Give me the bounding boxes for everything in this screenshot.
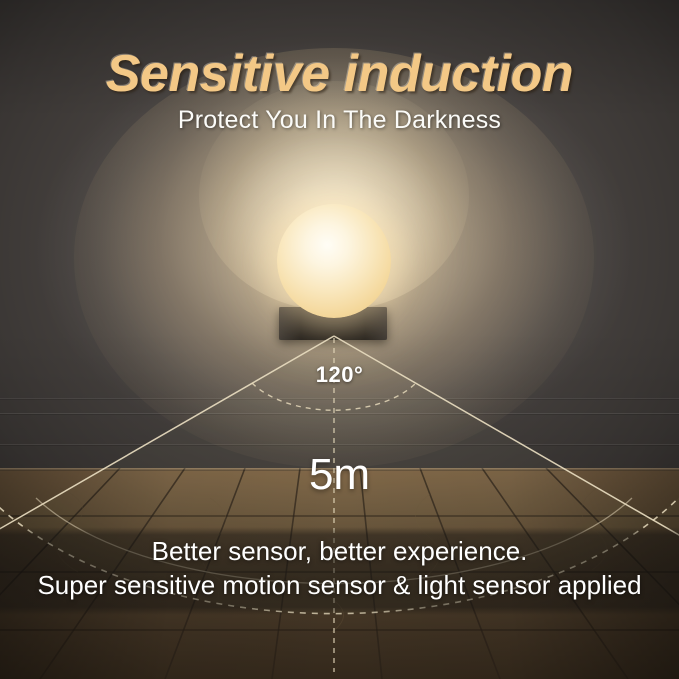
page-title: Sensitive induction: [0, 44, 679, 104]
caption-line-2: Super sensitive motion sensor & light se…: [0, 570, 679, 601]
detection-distance-label: 5m: [0, 450, 679, 500]
page-subtitle: Protect You In The Darkness: [0, 106, 679, 135]
detection-angle-label: 120°: [0, 362, 679, 388]
product-feature-graphic: Sensitive induction Protect You In The D…: [0, 0, 679, 679]
caption-line-1: Better sensor, better experience.: [0, 536, 679, 567]
